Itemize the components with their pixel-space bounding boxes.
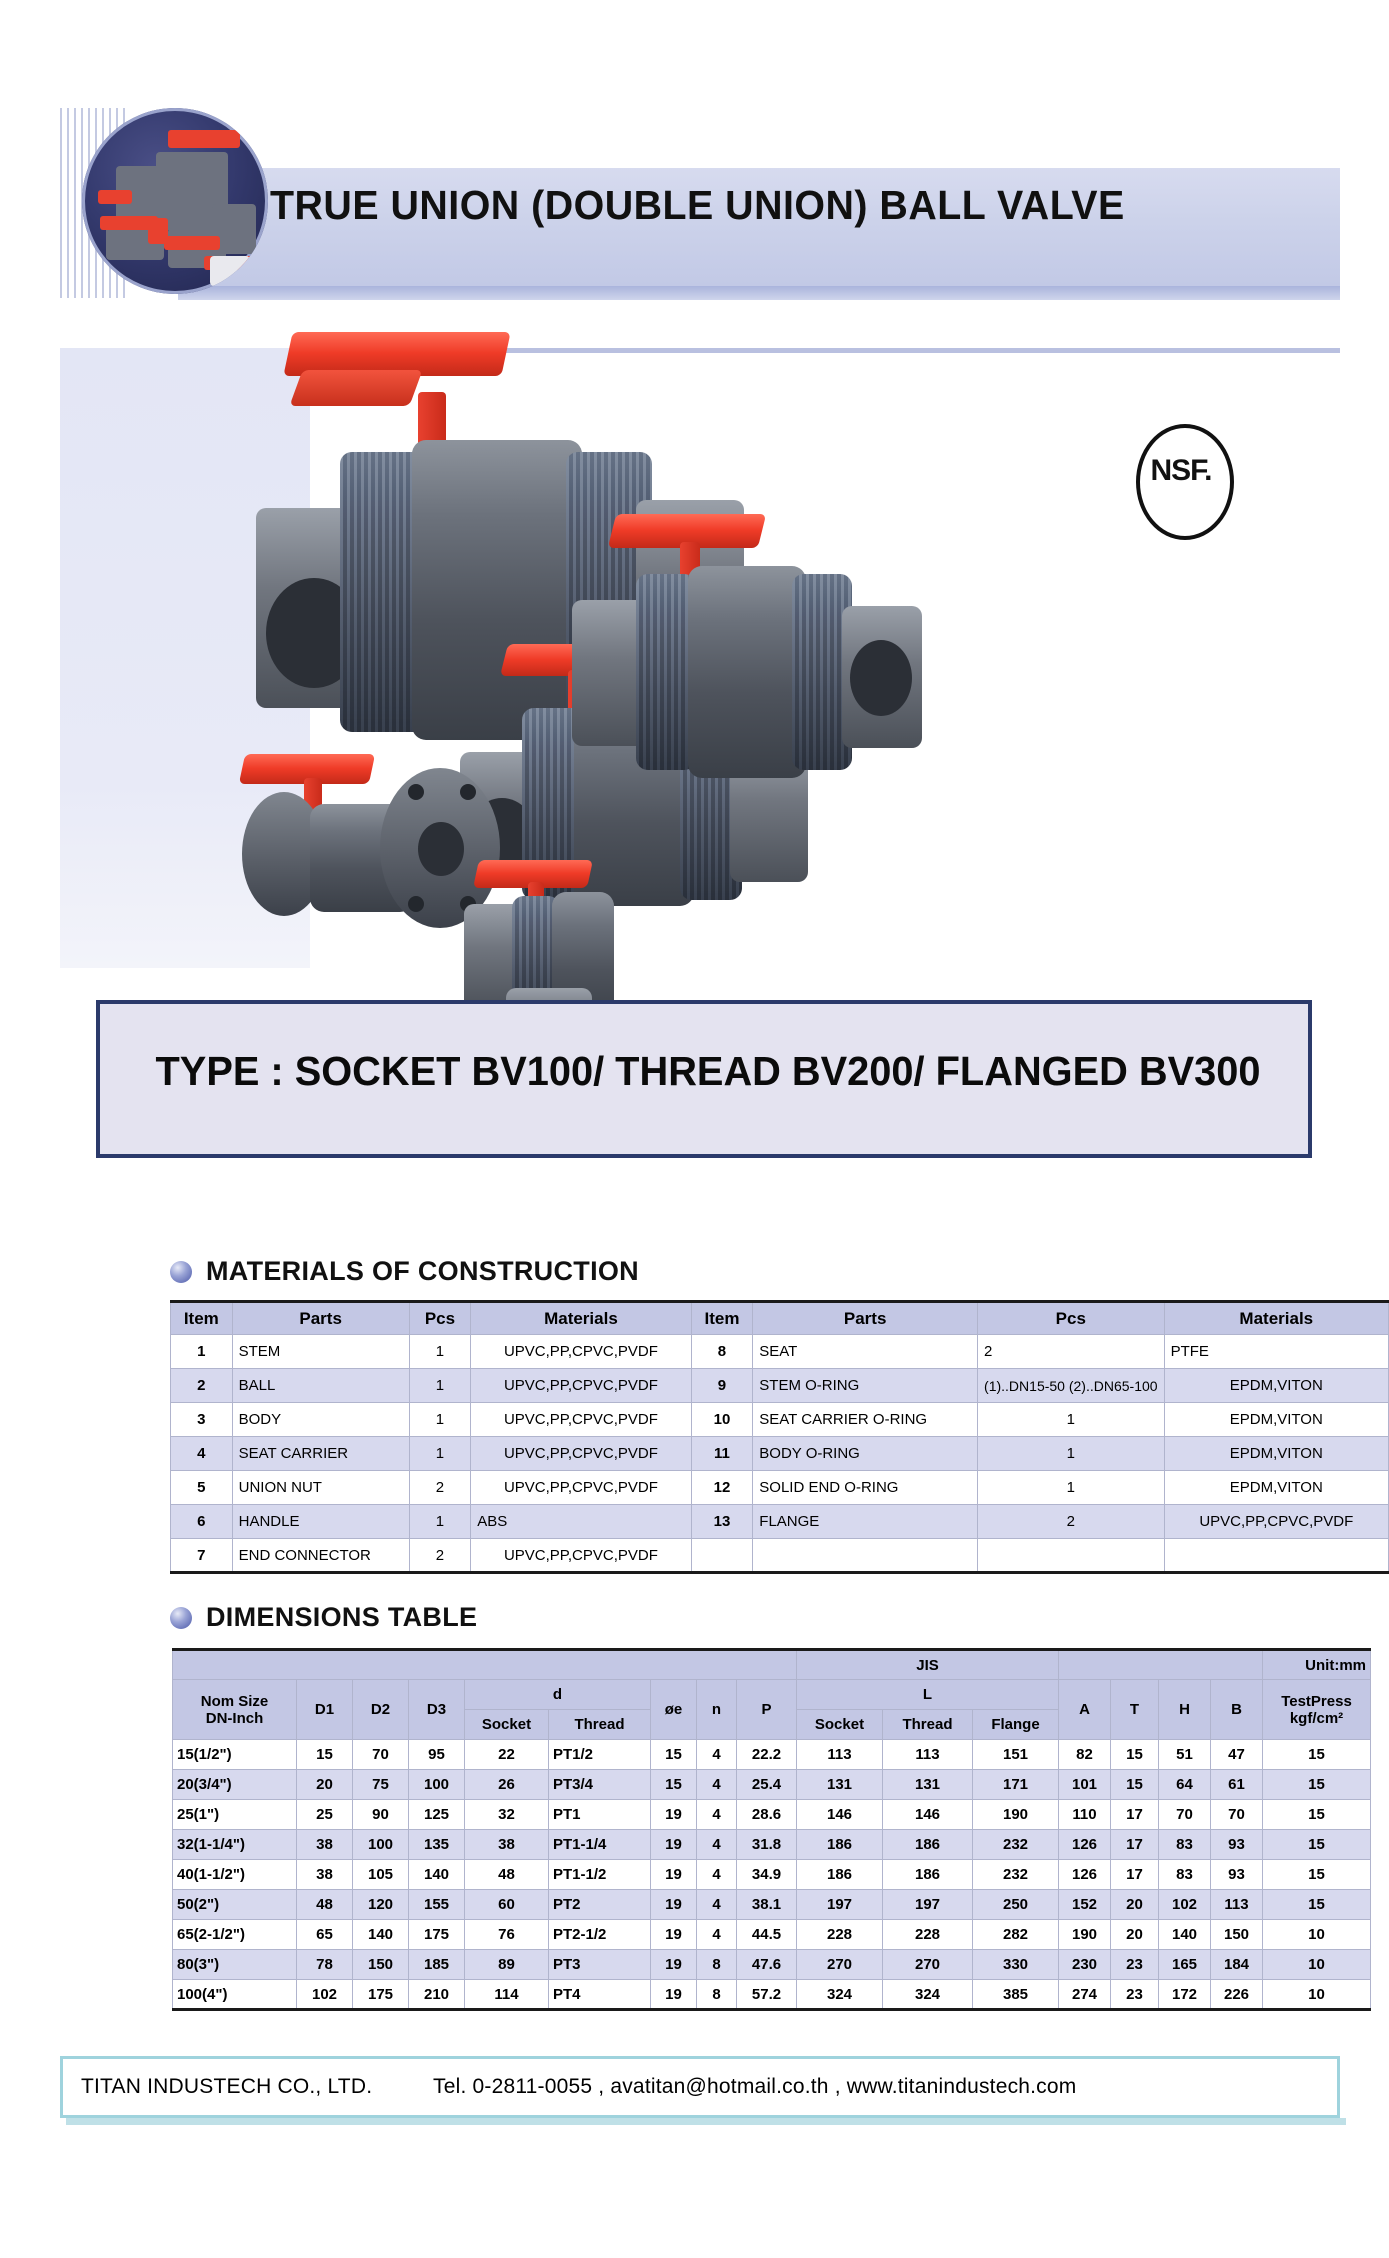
cell-oe: 15 bbox=[651, 1740, 697, 1770]
cell-material: PTFE bbox=[1164, 1335, 1388, 1369]
cell-d3: 140 bbox=[409, 1860, 465, 1890]
cell-h: 140 bbox=[1159, 1920, 1211, 1950]
cell-material: UPVC,PP,CPVC,PVDF bbox=[1164, 1505, 1388, 1539]
col-testpress: TestPress kgf/cm² bbox=[1263, 1680, 1371, 1740]
cell-d1: 102 bbox=[297, 1980, 353, 2010]
col-p: P bbox=[737, 1680, 797, 1740]
cell-oe: 19 bbox=[651, 1860, 697, 1890]
cell-b: 113 bbox=[1211, 1890, 1263, 1920]
materials-heading-label: MATERIALS OF CONSTRUCTION bbox=[206, 1256, 639, 1287]
col-d2: D2 bbox=[353, 1680, 409, 1740]
cell-l-flange: 232 bbox=[973, 1860, 1059, 1890]
cell-l-flange: 232 bbox=[973, 1830, 1059, 1860]
cell-pcs: 1 bbox=[409, 1369, 470, 1403]
col-l-socket: Socket bbox=[797, 1710, 883, 1740]
materials-table-body: 1 STEM 1 UPVC,PP,CPVC,PVDF 8 SEAT 2 PTFE… bbox=[171, 1335, 1389, 1573]
cell-d1: 48 bbox=[297, 1890, 353, 1920]
cell-a: 126 bbox=[1059, 1860, 1111, 1890]
cell-b: 150 bbox=[1211, 1920, 1263, 1950]
col-nom-size: Nom Size DN-Inch bbox=[173, 1680, 297, 1740]
cell-l-socket: 186 bbox=[797, 1830, 883, 1860]
col-parts-right: Parts bbox=[753, 1302, 978, 1335]
cell-b: 47 bbox=[1211, 1740, 1263, 1770]
table-row: 25(1") 25 90 125 32 PT1 19 4 28.6 146 14… bbox=[173, 1800, 1371, 1830]
cell-material: UPVC,PP,CPVC,PVDF bbox=[471, 1539, 691, 1573]
cell-d1: 65 bbox=[297, 1920, 353, 1950]
cell-pcs: 2 bbox=[978, 1335, 1165, 1369]
cell-d1: 38 bbox=[297, 1830, 353, 1860]
cell-a: 274 bbox=[1059, 1980, 1111, 2010]
cell-oe: 19 bbox=[651, 1890, 697, 1920]
page-title: TRUE UNION (DOUBLE UNION) BALL VALVE bbox=[270, 182, 1230, 229]
product-logo-photo bbox=[82, 108, 268, 294]
cell-testpress: 15 bbox=[1263, 1860, 1371, 1890]
cell-d-socket: 60 bbox=[465, 1890, 549, 1920]
materials-table: Item Parts Pcs Materials Item Parts Pcs … bbox=[170, 1300, 1389, 1574]
col-t: T bbox=[1111, 1680, 1159, 1740]
table-row: 4 SEAT CARRIER 1 UPVC,PP,CPVC,PVDF 11 BO… bbox=[171, 1437, 1389, 1471]
cell-item bbox=[691, 1539, 753, 1573]
cell-oe: 19 bbox=[651, 1830, 697, 1860]
cell-l-thread: 270 bbox=[883, 1950, 973, 1980]
cell-d1: 20 bbox=[297, 1770, 353, 1800]
cell-material: UPVC,PP,CPVC,PVDF bbox=[471, 1403, 691, 1437]
cell-item: 2 bbox=[171, 1369, 233, 1403]
cell-a: 230 bbox=[1059, 1950, 1111, 1980]
table-row: 100(4") 102 175 210 114 PT4 19 8 57.2 32… bbox=[173, 1980, 1371, 2010]
cell-material: UPVC,PP,CPVC,PVDF bbox=[471, 1471, 691, 1505]
cell-item: 9 bbox=[691, 1369, 753, 1403]
col-nom-size-line2: DN-Inch bbox=[177, 1710, 292, 1727]
col-item-right: Item bbox=[691, 1302, 753, 1335]
cell-p: 34.9 bbox=[737, 1860, 797, 1890]
cell-d-thread: PT1/2 bbox=[549, 1740, 651, 1770]
dimensions-header-row-1: Nom Size DN-Inch D1 D2 D3 d øe n P L A T… bbox=[173, 1680, 1371, 1710]
cell-p: 25.4 bbox=[737, 1770, 797, 1800]
cell-pcs: 1 bbox=[409, 1505, 470, 1539]
cell-d2: 90 bbox=[353, 1800, 409, 1830]
cell-nom-size: 15(1/2") bbox=[173, 1740, 297, 1770]
cell-testpress: 15 bbox=[1263, 1800, 1371, 1830]
col-pcs-left: Pcs bbox=[409, 1302, 470, 1335]
standard-spacer bbox=[1059, 1650, 1263, 1680]
col-l-flange: Flange bbox=[973, 1710, 1059, 1740]
cell-d3: 155 bbox=[409, 1890, 465, 1920]
table-row: 6 HANDLE 1 ABS 13 FLANGE 2 UPVC,PP,CPVC,… bbox=[171, 1505, 1389, 1539]
cell-pcs: 2 bbox=[978, 1505, 1165, 1539]
cell-d3: 185 bbox=[409, 1950, 465, 1980]
cell-d-thread: PT2-1/2 bbox=[549, 1920, 651, 1950]
cell-d-socket: 22 bbox=[465, 1740, 549, 1770]
cell-d-socket: 26 bbox=[465, 1770, 549, 1800]
cell-l-thread: 186 bbox=[883, 1830, 973, 1860]
cell-d2: 105 bbox=[353, 1860, 409, 1890]
cell-material: ABS bbox=[471, 1505, 691, 1539]
cell-d1: 38 bbox=[297, 1860, 353, 1890]
col-d-socket: Socket bbox=[465, 1710, 549, 1740]
cell-p: 22.2 bbox=[737, 1740, 797, 1770]
cell-a: 152 bbox=[1059, 1890, 1111, 1920]
cell-d-thread: PT2 bbox=[549, 1890, 651, 1920]
cell-item: 3 bbox=[171, 1403, 233, 1437]
cell-nom-size: 32(1-1/4") bbox=[173, 1830, 297, 1860]
cell-d1: 25 bbox=[297, 1800, 353, 1830]
cell-b: 61 bbox=[1211, 1770, 1263, 1800]
cell-h: 64 bbox=[1159, 1770, 1211, 1800]
cell-h: 172 bbox=[1159, 1980, 1211, 2010]
cell-n: 4 bbox=[697, 1770, 737, 1800]
table-row: 80(3") 78 150 185 89 PT3 19 8 47.6 270 2… bbox=[173, 1950, 1371, 1980]
cell-b: 226 bbox=[1211, 1980, 1263, 2010]
cell-pcs: 1 bbox=[978, 1471, 1165, 1505]
col-nom-size-line1: Nom Size bbox=[177, 1693, 292, 1710]
cell-nom-size: 65(2-1/2") bbox=[173, 1920, 297, 1950]
cell-testpress: 15 bbox=[1263, 1770, 1371, 1800]
cell-pcs: 1 bbox=[978, 1437, 1165, 1471]
table-row: 3 BODY 1 UPVC,PP,CPVC,PVDF 10 SEAT CARRI… bbox=[171, 1403, 1389, 1437]
cell-l-socket: 146 bbox=[797, 1800, 883, 1830]
cell-nom-size: 80(3") bbox=[173, 1950, 297, 1980]
cell-nom-size: 40(1-1/2") bbox=[173, 1860, 297, 1890]
bullet-icon bbox=[170, 1607, 192, 1629]
cell-a: 190 bbox=[1059, 1920, 1111, 1950]
col-a: A bbox=[1059, 1680, 1111, 1740]
table-row: 1 STEM 1 UPVC,PP,CPVC,PVDF 8 SEAT 2 PTFE bbox=[171, 1335, 1389, 1369]
cell-n: 8 bbox=[697, 1980, 737, 2010]
cell-nom-size: 20(3/4") bbox=[173, 1770, 297, 1800]
cell-part: BALL bbox=[232, 1369, 409, 1403]
table-row: 50(2") 48 120 155 60 PT2 19 4 38.1 197 1… bbox=[173, 1890, 1371, 1920]
cell-h: 83 bbox=[1159, 1830, 1211, 1860]
col-d-thread: Thread bbox=[549, 1710, 651, 1740]
cell-b: 70 bbox=[1211, 1800, 1263, 1830]
cell-l-socket: 113 bbox=[797, 1740, 883, 1770]
nsf-label: NSF. bbox=[1136, 454, 1226, 488]
cell-nom-size: 50(2") bbox=[173, 1890, 297, 1920]
col-materials-right: Materials bbox=[1164, 1302, 1388, 1335]
cell-d1: 78 bbox=[297, 1950, 353, 1980]
unit-label: Unit:mm bbox=[1263, 1650, 1371, 1680]
cell-p: 31.8 bbox=[737, 1830, 797, 1860]
cell-part: SEAT CARRIER bbox=[232, 1437, 409, 1471]
cell-part: SOLID END O-RING bbox=[753, 1471, 978, 1505]
col-d-group: d bbox=[465, 1680, 651, 1710]
cell-part: BODY O-RING bbox=[753, 1437, 978, 1471]
col-l-thread: Thread bbox=[883, 1710, 973, 1740]
footer-company-name: TITAN INDUSTECH CO., LTD. bbox=[81, 2075, 372, 2099]
cell-testpress: 10 bbox=[1263, 1950, 1371, 1980]
cell-testpress: 15 bbox=[1263, 1740, 1371, 1770]
table-row: 32(1-1/4") 38 100 135 38 PT1-1/4 19 4 31… bbox=[173, 1830, 1371, 1860]
datasheet-page: TRUE UNION (DOUBLE UNION) BALL VALVE bbox=[0, 0, 1389, 2258]
cell-l-thread: 186 bbox=[883, 1860, 973, 1890]
cell-d-thread: PT1 bbox=[549, 1800, 651, 1830]
cell-oe: 15 bbox=[651, 1770, 697, 1800]
cell-d2: 70 bbox=[353, 1740, 409, 1770]
cell-p: 44.5 bbox=[737, 1920, 797, 1950]
standard-label-left bbox=[173, 1650, 797, 1680]
cell-l-socket: 324 bbox=[797, 1980, 883, 2010]
cell-d2: 120 bbox=[353, 1890, 409, 1920]
cell-material: EPDM,VITON bbox=[1164, 1471, 1388, 1505]
dimensions-table: JIS Unit:mm Nom Size DN-Inch D1 D2 D3 d … bbox=[172, 1648, 1371, 2011]
table-row: 40(1-1/2") 38 105 140 48 PT1-1/2 19 4 34… bbox=[173, 1860, 1371, 1890]
cell-part: STEM bbox=[232, 1335, 409, 1369]
cell-part: SEAT CARRIER O-RING bbox=[753, 1403, 978, 1437]
cell-oe: 19 bbox=[651, 1950, 697, 1980]
col-d1: D1 bbox=[297, 1680, 353, 1740]
cell-d3: 175 bbox=[409, 1920, 465, 1950]
cell-p: 38.1 bbox=[737, 1890, 797, 1920]
cell-d2: 100 bbox=[353, 1830, 409, 1860]
bullet-icon bbox=[170, 1261, 192, 1283]
cell-t: 17 bbox=[1111, 1860, 1159, 1890]
cell-pcs: 1 bbox=[409, 1403, 470, 1437]
dimensions-heading-label: DIMENSIONS TABLE bbox=[206, 1602, 477, 1633]
cell-a: 101 bbox=[1059, 1770, 1111, 1800]
cell-part: SEAT bbox=[753, 1335, 978, 1369]
cell-pcs: 1 bbox=[978, 1403, 1165, 1437]
cell-material: EPDM,VITON bbox=[1164, 1437, 1388, 1471]
cell-h: 165 bbox=[1159, 1950, 1211, 1980]
cell-d3: 210 bbox=[409, 1980, 465, 2010]
cell-a: 82 bbox=[1059, 1740, 1111, 1770]
cell-testpress: 10 bbox=[1263, 1920, 1371, 1950]
cell-d3: 125 bbox=[409, 1800, 465, 1830]
cell-part: BODY bbox=[232, 1403, 409, 1437]
cell-item: 6 bbox=[171, 1505, 233, 1539]
cell-a: 110 bbox=[1059, 1800, 1111, 1830]
cell-t: 20 bbox=[1111, 1890, 1159, 1920]
materials-heading: MATERIALS OF CONSTRUCTION bbox=[170, 1256, 639, 1287]
cell-d-thread: PT3 bbox=[549, 1950, 651, 1980]
table-row: 15(1/2") 15 70 95 22 PT1/2 15 4 22.2 113… bbox=[173, 1740, 1371, 1770]
cell-material: UPVC,PP,CPVC,PVDF bbox=[471, 1437, 691, 1471]
col-d3: D3 bbox=[409, 1680, 465, 1740]
col-item-left: Item bbox=[171, 1302, 233, 1335]
cell-material: EPDM,VITON bbox=[1164, 1403, 1388, 1437]
header-band-shadow bbox=[178, 286, 1340, 300]
cell-d-socket: 38 bbox=[465, 1830, 549, 1860]
cell-part: STEM O-RING bbox=[753, 1369, 978, 1403]
cell-t: 15 bbox=[1111, 1740, 1159, 1770]
cell-h: 102 bbox=[1159, 1890, 1211, 1920]
cell-oe: 19 bbox=[651, 1800, 697, 1830]
cell-d2: 175 bbox=[353, 1980, 409, 2010]
cell-l-flange: 171 bbox=[973, 1770, 1059, 1800]
cell-d-socket: 89 bbox=[465, 1950, 549, 1980]
cell-part bbox=[753, 1539, 978, 1573]
col-parts-left: Parts bbox=[232, 1302, 409, 1335]
cell-pcs: 2 bbox=[409, 1539, 470, 1573]
cell-l-thread: 324 bbox=[883, 1980, 973, 2010]
cell-l-socket: 186 bbox=[797, 1860, 883, 1890]
cell-d-socket: 76 bbox=[465, 1920, 549, 1950]
cell-pcs: 2 bbox=[409, 1471, 470, 1505]
table-row: 5 UNION NUT 2 UPVC,PP,CPVC,PVDF 12 SOLID… bbox=[171, 1471, 1389, 1505]
col-materials-left: Materials bbox=[471, 1302, 691, 1335]
cell-pcs: (1)..DN15-50 (2)..DN65-100 bbox=[978, 1369, 1165, 1403]
cell-b: 93 bbox=[1211, 1830, 1263, 1860]
cell-n: 4 bbox=[697, 1920, 737, 1950]
cell-d2: 150 bbox=[353, 1950, 409, 1980]
col-n: n bbox=[697, 1680, 737, 1740]
cell-item: 11 bbox=[691, 1437, 753, 1471]
col-oe: øe bbox=[651, 1680, 697, 1740]
cell-l-flange: 190 bbox=[973, 1800, 1059, 1830]
type-banner-text: TYPE : SOCKET BV100/ THREAD BV200/ FLANG… bbox=[118, 1048, 1298, 1095]
cell-b: 93 bbox=[1211, 1860, 1263, 1890]
cell-t: 15 bbox=[1111, 1770, 1159, 1800]
cell-pcs: 1 bbox=[409, 1335, 470, 1369]
cell-a: 126 bbox=[1059, 1830, 1111, 1860]
cell-d1: 15 bbox=[297, 1740, 353, 1770]
cell-d3: 135 bbox=[409, 1830, 465, 1860]
materials-table-header-row: Item Parts Pcs Materials Item Parts Pcs … bbox=[171, 1302, 1389, 1335]
cell-testpress: 15 bbox=[1263, 1830, 1371, 1860]
table-row: 20(3/4") 20 75 100 26 PT3/4 15 4 25.4 13… bbox=[173, 1770, 1371, 1800]
cell-l-thread: 228 bbox=[883, 1920, 973, 1950]
cell-d2: 140 bbox=[353, 1920, 409, 1950]
col-l-group: L bbox=[797, 1680, 1059, 1710]
cell-nom-size: 100(4") bbox=[173, 1980, 297, 2010]
dimensions-table-body: 15(1/2") 15 70 95 22 PT1/2 15 4 22.2 113… bbox=[173, 1740, 1371, 2010]
cell-l-socket: 131 bbox=[797, 1770, 883, 1800]
cell-l-flange: 330 bbox=[973, 1950, 1059, 1980]
cell-h: 70 bbox=[1159, 1800, 1211, 1830]
cell-d3: 100 bbox=[409, 1770, 465, 1800]
col-testpress-line1: TestPress bbox=[1267, 1693, 1366, 1710]
cell-t: 20 bbox=[1111, 1920, 1159, 1950]
cell-p: 57.2 bbox=[737, 1980, 797, 2010]
cell-d-socket: 48 bbox=[465, 1860, 549, 1890]
cell-d-socket: 114 bbox=[465, 1980, 549, 2010]
cell-material: UPVC,PP,CPVC,PVDF bbox=[471, 1369, 691, 1403]
cell-part: END CONNECTOR bbox=[232, 1539, 409, 1573]
table-row: 7 END CONNECTOR 2 UPVC,PP,CPVC,PVDF bbox=[171, 1539, 1389, 1573]
cell-testpress: 10 bbox=[1263, 1980, 1371, 2010]
cell-n: 4 bbox=[697, 1800, 737, 1830]
cell-pcs bbox=[978, 1539, 1165, 1573]
col-b: B bbox=[1211, 1680, 1263, 1740]
cell-l-thread: 131 bbox=[883, 1770, 973, 1800]
standard-label: JIS bbox=[797, 1650, 1059, 1680]
cell-pcs: 1 bbox=[409, 1437, 470, 1471]
footer-contact-info: Tel. 0-2811-0055 , avatitan@hotmail.co.t… bbox=[433, 2075, 1076, 2099]
cell-nom-size: 25(1") bbox=[173, 1800, 297, 1830]
cell-oe: 19 bbox=[651, 1980, 697, 2010]
cell-part: FLANGE bbox=[753, 1505, 978, 1539]
nsf-certification-icon: NSF. bbox=[1136, 424, 1230, 536]
cell-l-flange: 385 bbox=[973, 1980, 1059, 2010]
cell-l-socket: 197 bbox=[797, 1890, 883, 1920]
cell-t: 17 bbox=[1111, 1830, 1159, 1860]
cell-l-socket: 228 bbox=[797, 1920, 883, 1950]
cell-item: 12 bbox=[691, 1471, 753, 1505]
cell-t: 17 bbox=[1111, 1800, 1159, 1830]
cell-item: 5 bbox=[171, 1471, 233, 1505]
col-testpress-line2: kgf/cm² bbox=[1267, 1710, 1366, 1727]
cell-item: 1 bbox=[171, 1335, 233, 1369]
cell-p: 28.6 bbox=[737, 1800, 797, 1830]
cell-material bbox=[1164, 1539, 1388, 1573]
cell-n: 8 bbox=[697, 1950, 737, 1980]
cell-t: 23 bbox=[1111, 1980, 1159, 2010]
cell-l-thread: 197 bbox=[883, 1890, 973, 1920]
footer-shadow bbox=[66, 2118, 1346, 2125]
table-row: 65(2-1/2") 65 140 175 76 PT2-1/2 19 4 44… bbox=[173, 1920, 1371, 1950]
cell-b: 184 bbox=[1211, 1950, 1263, 1980]
cell-l-flange: 250 bbox=[973, 1890, 1059, 1920]
cell-d-thread: PT4 bbox=[549, 1980, 651, 2010]
cell-n: 4 bbox=[697, 1830, 737, 1860]
cell-material: EPDM,VITON bbox=[1164, 1369, 1388, 1403]
cell-p: 47.6 bbox=[737, 1950, 797, 1980]
cell-testpress: 15 bbox=[1263, 1890, 1371, 1920]
cell-h: 83 bbox=[1159, 1860, 1211, 1890]
cell-l-flange: 282 bbox=[973, 1920, 1059, 1950]
cell-d-thread: PT3/4 bbox=[549, 1770, 651, 1800]
cell-item: 8 bbox=[691, 1335, 753, 1369]
dimensions-standard-row: JIS Unit:mm bbox=[173, 1650, 1371, 1680]
cell-d-thread: PT1-1/2 bbox=[549, 1860, 651, 1890]
cell-part: UNION NUT bbox=[232, 1471, 409, 1505]
cell-n: 4 bbox=[697, 1890, 737, 1920]
cell-t: 23 bbox=[1111, 1950, 1159, 1980]
page-header: TRUE UNION (DOUBLE UNION) BALL VALVE bbox=[60, 108, 1340, 348]
cell-material: UPVC,PP,CPVC,PVDF bbox=[471, 1335, 691, 1369]
table-row: 2 BALL 1 UPVC,PP,CPVC,PVDF 9 STEM O-RING… bbox=[171, 1369, 1389, 1403]
cell-item: 4 bbox=[171, 1437, 233, 1471]
col-h: H bbox=[1159, 1680, 1211, 1740]
cell-part: HANDLE bbox=[232, 1505, 409, 1539]
cell-n: 4 bbox=[697, 1740, 737, 1770]
cell-n: 4 bbox=[697, 1860, 737, 1890]
cell-item: 7 bbox=[171, 1539, 233, 1573]
cell-l-thread: 113 bbox=[883, 1740, 973, 1770]
cell-d2: 75 bbox=[353, 1770, 409, 1800]
cell-item: 13 bbox=[691, 1505, 753, 1539]
type-banner: TYPE : SOCKET BV100/ THREAD BV200/ FLANG… bbox=[96, 1000, 1312, 1158]
cell-d3: 95 bbox=[409, 1740, 465, 1770]
cell-oe: 19 bbox=[651, 1920, 697, 1950]
cell-l-thread: 146 bbox=[883, 1800, 973, 1830]
cell-h: 51 bbox=[1159, 1740, 1211, 1770]
cell-l-socket: 270 bbox=[797, 1950, 883, 1980]
cell-l-flange: 151 bbox=[973, 1740, 1059, 1770]
page-footer: TITAN INDUSTECH CO., LTD. Tel. 0-2811-00… bbox=[60, 2056, 1340, 2118]
cell-d-thread: PT1-1/4 bbox=[549, 1830, 651, 1860]
cell-d-socket: 32 bbox=[465, 1800, 549, 1830]
dimensions-heading: DIMENSIONS TABLE bbox=[170, 1602, 477, 1633]
cell-item: 10 bbox=[691, 1403, 753, 1437]
col-pcs-right: Pcs bbox=[978, 1302, 1165, 1335]
